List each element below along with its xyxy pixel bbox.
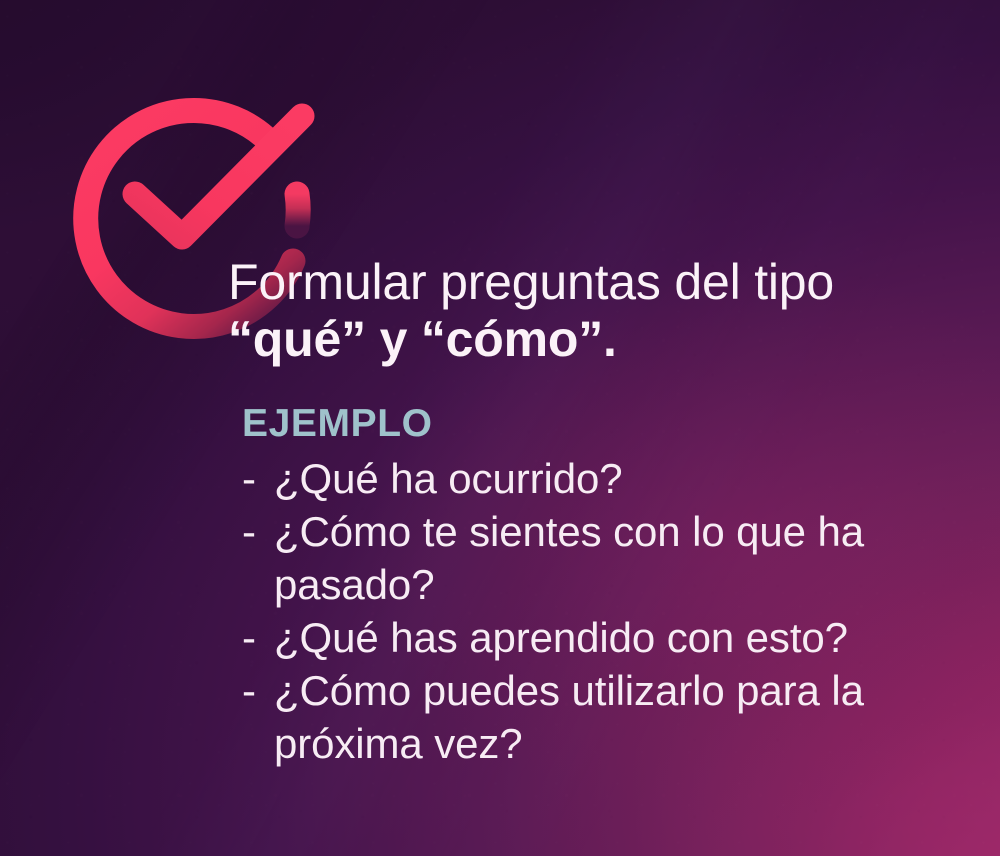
example-question-list: - ¿Qué ha ocurrido? - ¿Cómo te sientes c… <box>236 452 956 770</box>
list-item-text: ¿Qué has aprendido con esto? <box>274 611 956 664</box>
list-item: - ¿Qué has aprendido con esto? <box>236 611 956 664</box>
headline-line-2: “qué” y “cómo”. <box>228 311 958 367</box>
bullet-dash: - <box>242 505 256 558</box>
bullet-dash: - <box>242 664 256 717</box>
list-item-text: ¿Cómo puedes utilizarlo para la próxima … <box>274 664 956 770</box>
poster-canvas: Formular preguntas del tipo “qué” y “cóm… <box>0 0 1000 856</box>
bullet-dash: - <box>242 611 256 664</box>
page-title: Formular preguntas del tipo “qué” y “cóm… <box>228 253 958 367</box>
list-item: - ¿Cómo te sientes con lo que ha pasado? <box>236 505 956 611</box>
poster-content: Formular preguntas del tipo “qué” y “cóm… <box>228 0 988 856</box>
example-block: EJEMPLO - ¿Qué ha ocurrido? - ¿Cómo te s… <box>236 400 956 770</box>
list-item-text: ¿Qué ha ocurrido? <box>274 452 956 505</box>
bullet-dash: - <box>242 452 256 505</box>
headline-line-1: Formular preguntas del tipo <box>228 253 958 311</box>
example-heading: EJEMPLO <box>242 400 956 448</box>
list-item-text: ¿Cómo te sientes con lo que ha pasado? <box>274 505 956 611</box>
list-item: - ¿Qué ha ocurrido? <box>236 452 956 505</box>
list-item: - ¿Cómo puedes utilizarlo para la próxim… <box>236 664 956 770</box>
